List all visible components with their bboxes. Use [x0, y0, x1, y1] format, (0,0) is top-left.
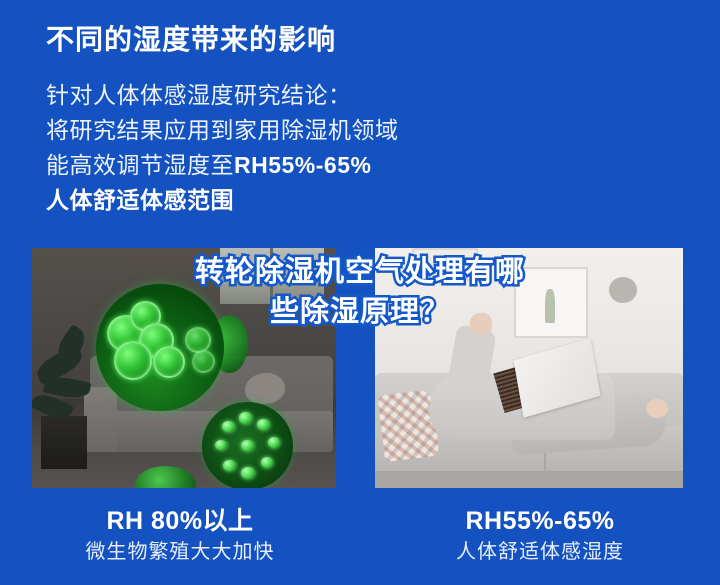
person-foot	[646, 399, 668, 418]
intro-line-1: 针对人体体感湿度研究结论：	[46, 78, 516, 113]
window	[220, 248, 323, 304]
plant-pot	[41, 416, 87, 469]
panel-comfortable-room	[375, 248, 683, 488]
wall-art	[514, 267, 589, 338]
caption-comfortable-description: 人体舒适体感湿度	[360, 537, 720, 567]
page-title: 不同的湿度带来的影响	[46, 18, 336, 58]
virus-spike	[222, 421, 235, 432]
sofa-base	[375, 471, 683, 488]
virus-spike	[261, 457, 274, 469]
panel-humid-room	[32, 248, 336, 488]
virus-spike	[241, 440, 254, 452]
virus-spike	[257, 419, 270, 430]
virus-spike	[268, 437, 280, 448]
microbe-cell	[114, 341, 152, 379]
intro-line-2: 将研究结果应用到家用除湿机领域	[46, 113, 516, 148]
virus-spike	[223, 460, 236, 471]
wall-lamp	[609, 277, 637, 303]
sofa-armrest	[84, 387, 117, 452]
intro-line-4: 人体舒适体感范围	[46, 183, 516, 218]
virus-spike	[241, 467, 255, 479]
intro-line-3: 能高效调节湿度至RH55%-65%	[46, 148, 516, 183]
wall-art-small	[412, 248, 478, 281]
caption-humid-description: 微生物繁殖大大加快	[0, 537, 360, 567]
virus-spike	[239, 412, 253, 424]
virus-spike	[215, 440, 227, 451]
caption-comfortable: RH55%-65% 人体舒适体感湿度	[360, 505, 720, 567]
microbe-cell	[153, 346, 185, 378]
caption-comfortable-value: RH55%-65%	[360, 505, 720, 537]
microbe-magnifier-circle	[96, 284, 224, 411]
virus-sphere	[202, 402, 293, 488]
poster-root: 不同的湿度带来的影响 针对人体体感湿度研究结论： 将研究结果应用到家用除湿机领域…	[0, 0, 720, 585]
caption-humid: RH 80%以上 微生物繁殖大大加快	[0, 505, 360, 567]
microbe-cell	[192, 350, 215, 373]
intro-line-3-normal: 能高效调节湿度至	[46, 152, 234, 178]
caption-humid-value: RH 80%以上	[0, 505, 360, 537]
intro-line-3-range: RH55%-65%	[234, 152, 371, 178]
intro-paragraph: 针对人体体感湿度研究结论： 将研究结果应用到家用除湿机领域 能高效调节湿度至RH…	[46, 78, 516, 218]
microbe-cell	[185, 327, 211, 353]
caption-row: RH 80%以上 微生物繁殖大大加快 RH55%-65% 人体舒适体感湿度	[0, 505, 720, 567]
